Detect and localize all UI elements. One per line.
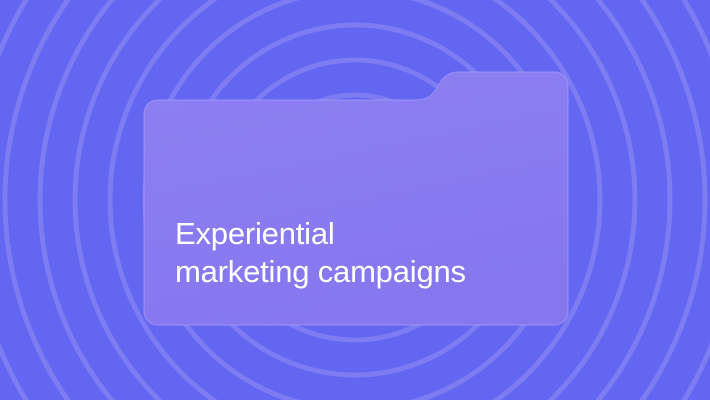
caption-line-2: marketing campaigns <box>175 253 575 291</box>
ring-4 <box>180 25 530 375</box>
canvas-root: Experiential marketing campaigns <box>0 0 710 400</box>
folder-caption: Experiential marketing campaigns <box>175 215 575 291</box>
ring-group <box>0 0 710 400</box>
caption-line-1: Experiential <box>175 215 575 253</box>
ring-3 <box>215 60 495 340</box>
concentric-rings-background <box>0 0 710 400</box>
